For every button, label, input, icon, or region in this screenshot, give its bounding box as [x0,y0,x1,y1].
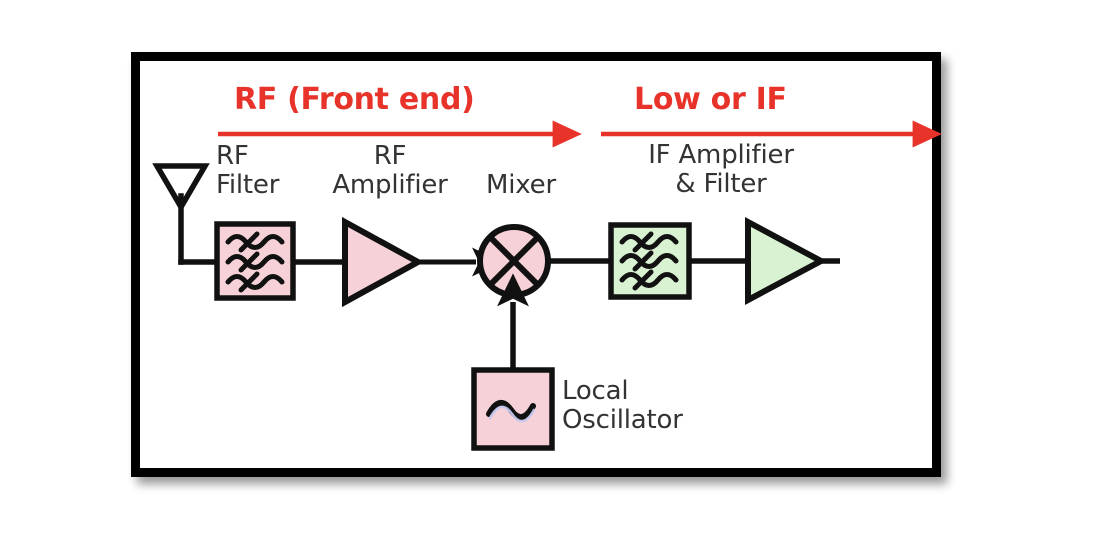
rf-amplifier-label-line2: Amplifier [332,171,447,200]
mixer-label: Mixer [486,171,556,200]
rf-section-title: RF (Front end) [234,82,475,117]
rf-filter-label-line2: Filter [216,171,279,200]
local-oscillator-label-line1: Local [562,377,628,406]
diagram-stage: RF (Front end) Low or IF RF Filter RF Am… [0,0,1100,546]
if-block-label-line2: & Filter [675,170,766,199]
if-section-title: Low or IF [634,82,787,117]
local-oscillator-label-line2: Oscillator [562,406,683,435]
if-block-label-line1: IF Amplifier [648,141,794,170]
rf-amplifier-label-line1: RF [374,142,407,171]
rf-filter-label-line1: RF [216,142,249,171]
